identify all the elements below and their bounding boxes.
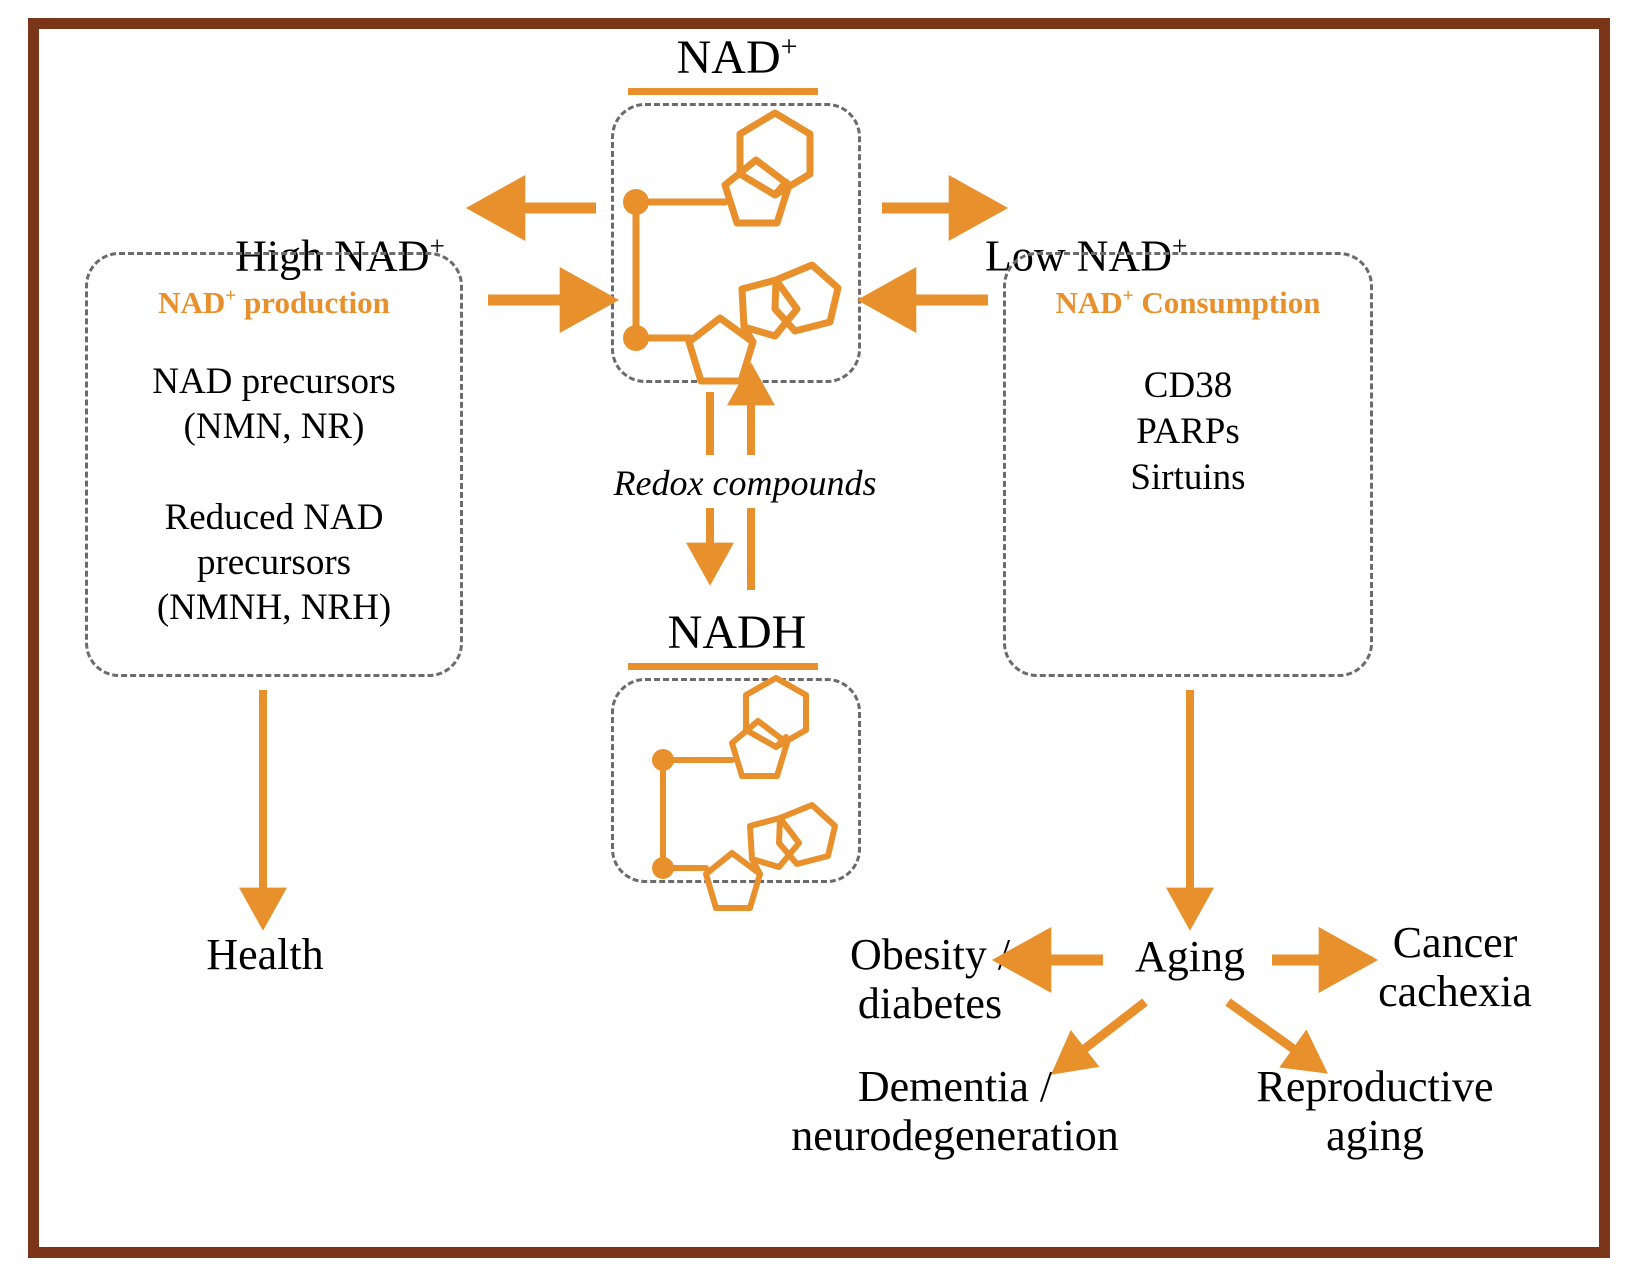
nad-consumption-item-sirtuins: Sirtuins	[1006, 455, 1370, 500]
nadh-title: NADH	[612, 605, 862, 660]
nad-production-title-base: NAD	[158, 285, 225, 320]
obesity-diabetes-outcome-label: Obesity / diabetes	[815, 930, 1045, 1029]
nad-consumption-item-cd38: CD38	[1006, 363, 1370, 408]
nad-production-item-reduced-precursors: Reduced NAD precursors (NMNH, NRH)	[88, 495, 460, 630]
nadh-title-underline	[628, 663, 818, 670]
nad-plus-molecule-box	[611, 103, 861, 383]
nad-plus-title: NAD+	[612, 30, 862, 85]
dementia-neurodegeneration-outcome-label: Dementia / neurodegeneration	[745, 1062, 1165, 1161]
nad-consumption-panel-title: NAD+ Consumption	[1006, 285, 1370, 321]
diagram-canvas: NAD+ NADH High NAD+ Low NAD+ NAD+ produc…	[0, 0, 1641, 1282]
nad-consumption-item-parps: PARPs	[1006, 409, 1370, 454]
nad-consumption-title-base: NAD	[1055, 285, 1122, 320]
arrow-aging-to-dementia	[1083, 1002, 1145, 1050]
nad-production-panel: NAD+ production NAD precursors (NMN, NR)…	[85, 252, 463, 677]
redox-compounds-label: Redox compounds	[580, 462, 910, 504]
nad-production-title-superscript: +	[225, 286, 236, 307]
nad-production-panel-title: NAD+ production	[88, 285, 460, 321]
health-outcome-label: Health	[140, 930, 390, 979]
nad-consumption-title-rest: Consumption	[1134, 285, 1321, 320]
aging-hub-label: Aging	[1090, 932, 1290, 981]
nadh-title-base: NADH	[668, 606, 807, 659]
nad-production-title-rest: production	[236, 285, 390, 320]
nad-production-item-precursors: NAD precursors (NMN, NR)	[88, 359, 460, 449]
diagram-page: NAD+ NADH High NAD+ Low NAD+ NAD+ produc…	[0, 0, 1641, 1282]
nad-plus-title-underline	[628, 88, 818, 95]
nad-consumption-panel: NAD+ Consumption CD38 PARPs Sirtuins	[1003, 252, 1373, 677]
nad-plus-title-base: NAD	[677, 31, 781, 84]
nad-plus-title-superscript: +	[781, 30, 798, 63]
nad-consumption-title-superscript: +	[1123, 286, 1134, 307]
nadh-molecule-box	[611, 678, 861, 883]
cancer-cachexia-outcome-label: Cancer cachexia	[1330, 918, 1580, 1017]
reproductive-aging-outcome-label: Reproductive aging	[1215, 1062, 1535, 1161]
arrow-aging-to-reproductive	[1228, 1002, 1295, 1050]
